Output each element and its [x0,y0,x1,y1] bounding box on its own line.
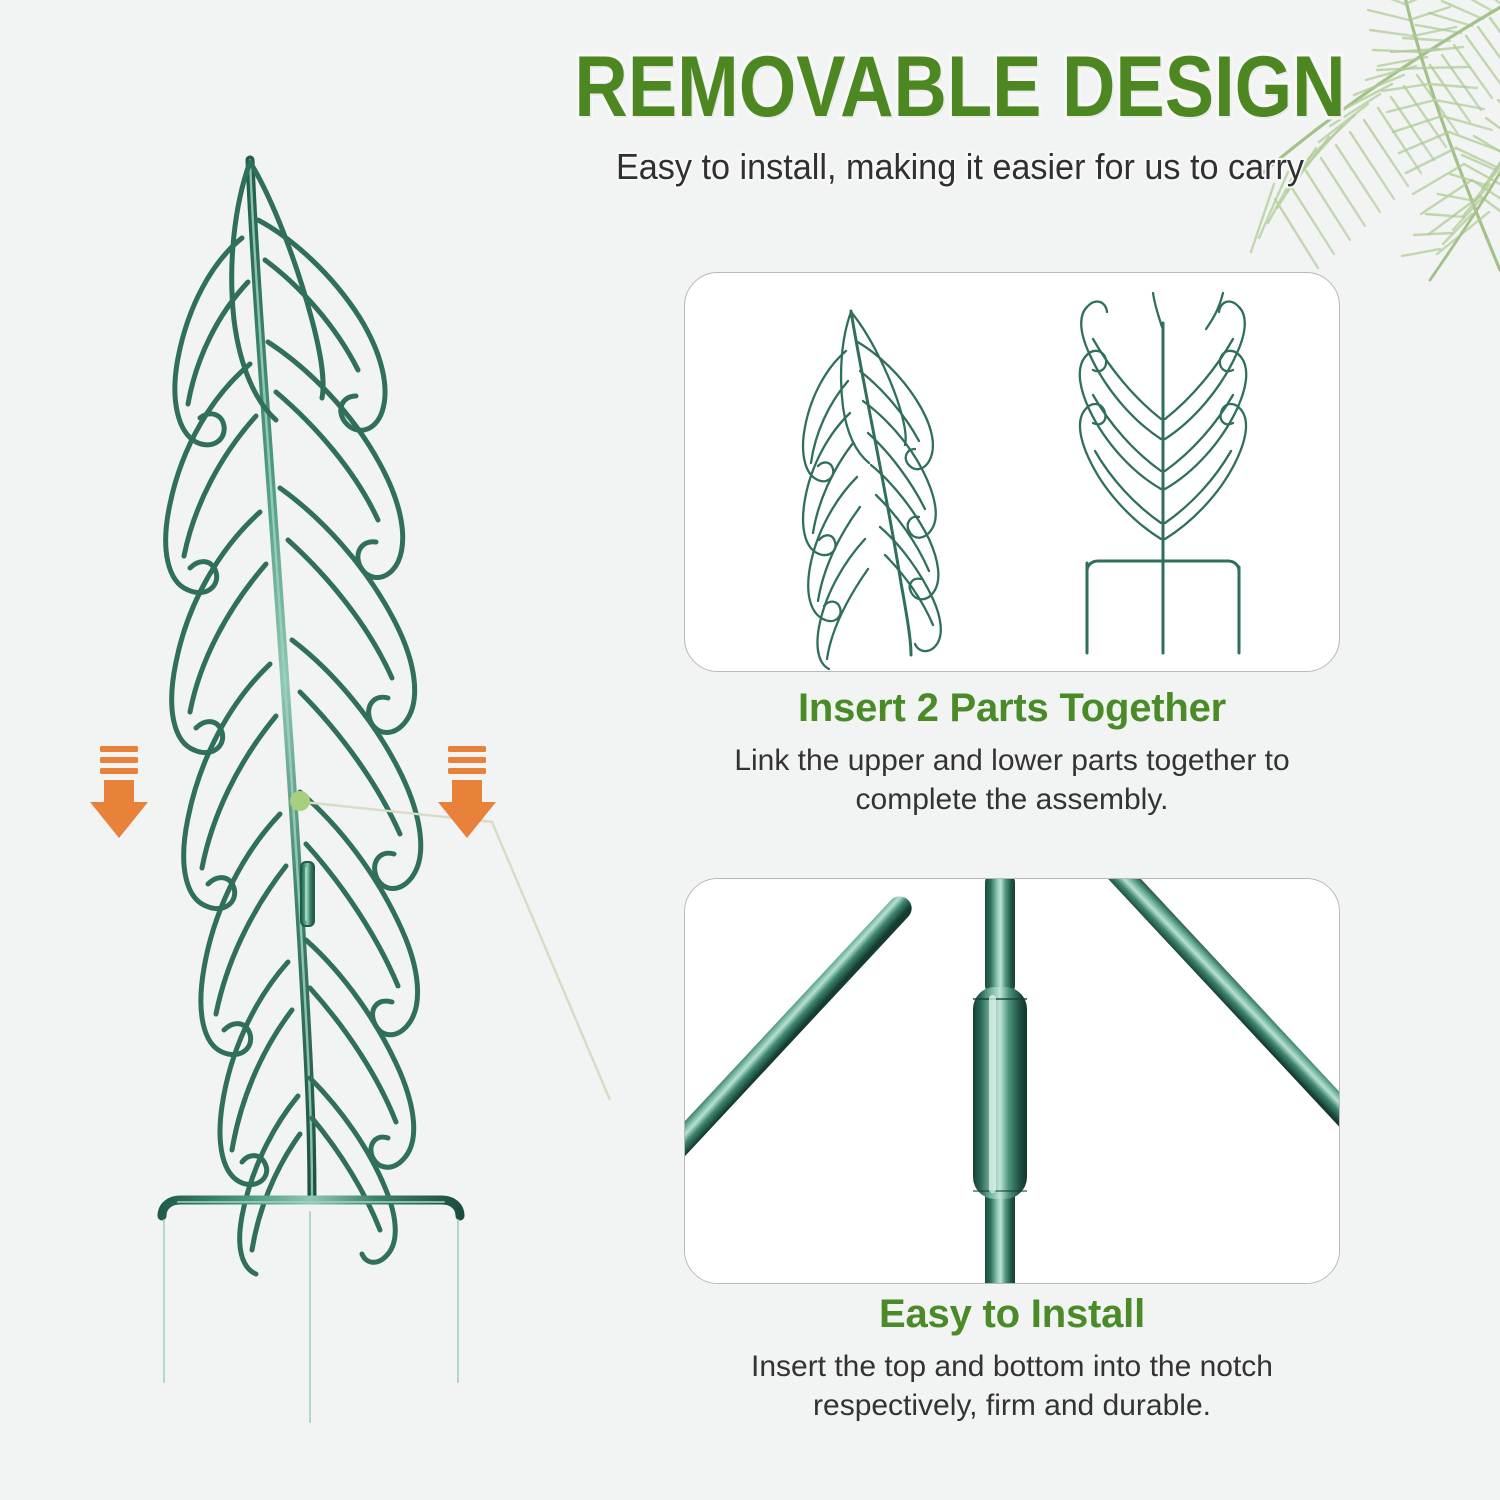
parts-caption-body: Link the upper and lower parts together … [672,741,1352,819]
connector-closeup-panel [684,878,1340,1284]
page-title: REMOVABLE DESIGN [504,42,1416,132]
parts-caption-line-2: complete the assembly. [672,780,1352,819]
parts-caption-block: Insert 2 Parts Together Link the upper a… [672,686,1352,819]
down-arrow-icon-right [436,744,498,840]
parts-caption-title: Insert 2 Parts Together [672,686,1352,731]
install-caption-line-2: respectively, firm and durable. [672,1386,1352,1425]
page-subtitle: Easy to install, making it easier for us… [457,146,1464,188]
upper-and-lower-parts-diagram [685,273,1340,672]
header-block: REMOVABLE DESIGN Easy to install, making… [430,0,1490,188]
install-caption-body: Insert the top and bottom into the notch… [672,1347,1352,1425]
parts-caption-line-1: Link the upper and lower parts together … [672,741,1352,780]
install-caption-title: Easy to Install [672,1292,1352,1337]
install-caption-block: Easy to Install Insert the top and botto… [672,1292,1352,1425]
down-arrow-icon-left [88,744,150,840]
infographic-canvas: REMOVABLE DESIGN Easy to install, making… [0,0,1500,1500]
install-caption-line-1: Insert the top and bottom into the notch [672,1347,1352,1386]
connector-sleeve-closeup-image [685,879,1340,1284]
parts-diagram-panel [684,272,1340,672]
